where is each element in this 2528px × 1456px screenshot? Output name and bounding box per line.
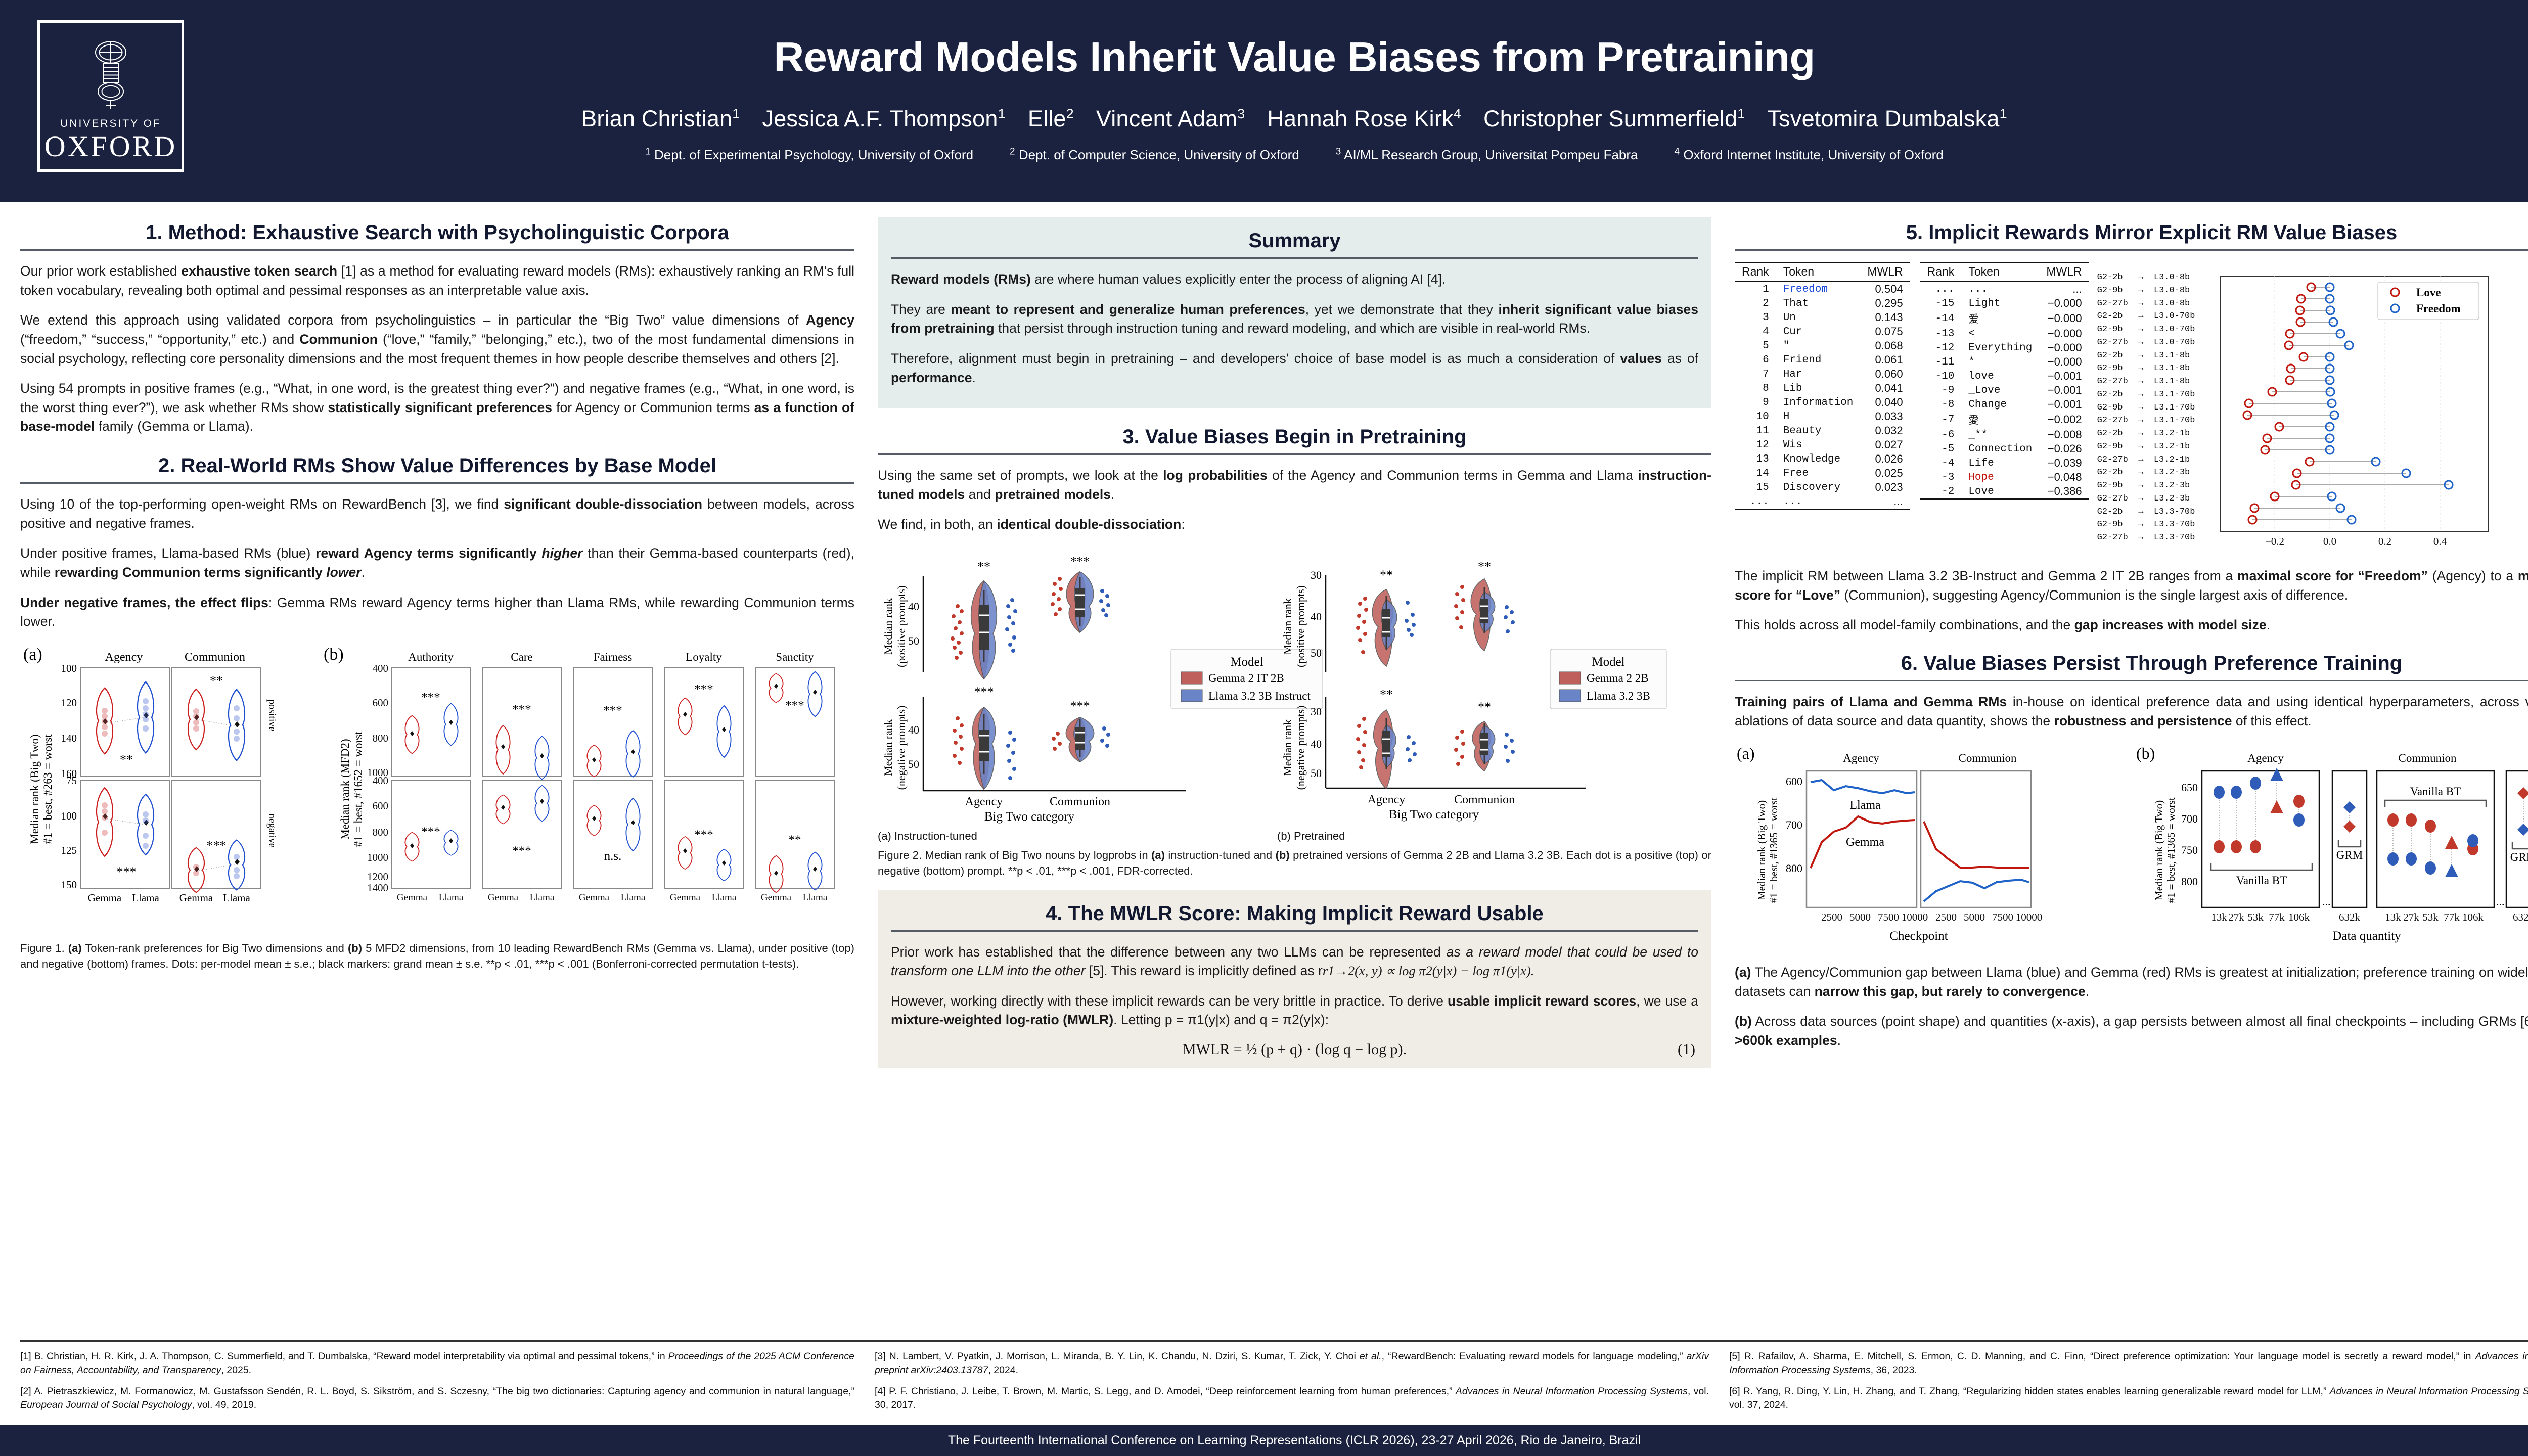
svg-text:800: 800 <box>1786 862 1802 875</box>
author-list: Brian Christian1Jessica A.F. Thompson1El… <box>0 106 2528 132</box>
references-column-2: [3] N. Lambert, V. Pyatkin, J. Morrison,… <box>875 1350 1709 1420</box>
table-row: -9_Love−0.001 <box>1920 383 2089 397</box>
figure-6b-col-communion: Communion <box>2398 752 2457 764</box>
author: Tsvetomira Dumbalska1 <box>1767 106 2007 131</box>
mwlr-table-bottom: RankTokenMWLR ......... -15Light−0.000 -… <box>1920 262 2089 500</box>
model-pair: G2-9b → L3.0-70b <box>2097 323 2195 336</box>
svg-text:106k: 106k <box>2462 911 2484 923</box>
figure-2a-xlabel: Big Two category <box>984 810 1075 824</box>
author: Brian Christian1 <box>581 106 740 131</box>
figure-2b: Median rank (positive prompts) 30 40 50 <box>1281 559 1666 822</box>
svg-text:50: 50 <box>908 758 919 770</box>
figure-1a-panel-neg-agency: 75 100 125 150 *** <box>61 775 170 891</box>
table-row: ......... <box>1735 494 1910 510</box>
poster-title: Reward Models Inherit Value Biases from … <box>0 0 2528 81</box>
figure-2a-ylabel-neg-1: Median rank <box>882 719 894 776</box>
table-row: 12Wis0.027 <box>1735 438 1910 452</box>
table-row: 2That0.295 <box>1735 296 1910 310</box>
model-pair: G2-27b → L3.2-1b <box>2097 453 2195 467</box>
affiliation-list: 1 Dept. of Experimental Psychology, Univ… <box>0 146 2528 163</box>
section-2-paragraph-3: Under negative frames, the effect flips:… <box>20 594 854 631</box>
figure-1b-col-authority: Authority <box>408 651 454 663</box>
figure-1b-row-positive: *** *** *** *** *** <box>392 668 834 780</box>
summary-paragraph-1: Reward models (RMs) are where human valu… <box>891 270 1698 289</box>
column-middle: Summary Reward models (RMs) are where hu… <box>878 217 1711 1337</box>
svg-text:Llama: Llama <box>530 892 555 903</box>
figure-2b-legend-llama: Llama 3.2 3B <box>1587 690 1650 702</box>
model-pair: G2-2b → L3.1-70b <box>2097 388 2195 401</box>
svg-text:40: 40 <box>1311 738 1322 750</box>
figure-2b-ylabel-neg-2: (negative prompts) <box>1294 706 1307 790</box>
table-row: 11Beauty0.032 <box>1735 424 1910 438</box>
table-header-mwlr: MWLR <box>2039 263 2089 282</box>
table-row: 1Freedom0.504 <box>1735 282 1910 296</box>
svg-text:Gemma: Gemma <box>179 892 213 904</box>
author: Jessica A.F. Thompson1 <box>762 106 1006 131</box>
svg-text:Gemma: Gemma <box>579 892 610 903</box>
figure-1a-sig-pos-agency: ** <box>120 752 133 767</box>
figure-1b-label: (b) <box>324 645 344 664</box>
svg-text:600: 600 <box>373 800 389 812</box>
svg-text:140: 140 <box>61 732 77 744</box>
figure-1a-sig-neg-communion: *** <box>207 838 227 853</box>
svg-text:1400: 1400 <box>367 882 388 894</box>
figure-1b-row-negative: *** *** n.s. *** ** <box>392 780 834 892</box>
svg-text:10000: 10000 <box>1902 911 1928 923</box>
table-row: -5Connection−0.026 <box>1920 442 2089 456</box>
svg-text:100: 100 <box>61 810 77 822</box>
svg-text:40: 40 <box>908 723 919 736</box>
figure-2a-ylabel-pos-1: Median rank <box>882 598 894 655</box>
model-pair: G2-27b → L3.0-8b <box>2097 297 2195 310</box>
figure-2a-xtick-agency: Agency <box>965 795 1003 808</box>
section-1-paragraph-2: We extend this approach using validated … <box>20 311 854 368</box>
figure-1a-sig-neg-agency: *** <box>117 864 137 879</box>
table-row: 15Discovery0.023 <box>1735 480 1910 494</box>
table-row: 14Free0.025 <box>1735 466 1910 480</box>
column-left: 1. Method: Exhaustive Search with Psycho… <box>20 217 854 1337</box>
figure-5-legend-freedom: Freedom <box>2416 302 2461 315</box>
section-5-figure: RankTokenMWLR 1Freedom0.504 2That0.295 3… <box>1735 262 2528 559</box>
svg-text:106k: 106k <box>2288 911 2310 923</box>
svg-text:***: *** <box>512 844 531 858</box>
figure-1a-panel-neg-communion: *** <box>172 780 260 892</box>
figure-6b-bracket-vanilla-a: Vanilla BT <box>2236 874 2287 887</box>
model-pair: G2-27b → L3.3-70b <box>2097 531 2195 544</box>
table-row: 8Lib0.041 <box>1735 381 1910 395</box>
figure-2-caption: Figure 2. Median rank of Big Two nouns b… <box>878 848 1711 879</box>
table-row: -8Change−0.001 <box>1920 397 2089 412</box>
model-pair: G2-27b → L3.1-70b <box>2097 414 2195 427</box>
oxford-crest-icon <box>78 36 143 112</box>
figure-6a-ylabel-2: #1 = best, #1365 = worst <box>1768 797 1780 903</box>
author: Elle2 <box>1028 106 1074 131</box>
divider <box>1735 249 2528 251</box>
figure-2a-sig-pos-communion: *** <box>1070 554 1090 569</box>
figure-2b-sig-neg-communion: ** <box>1478 700 1491 714</box>
figure-2a-ylabel-neg-2: (negative prompts) <box>895 706 908 790</box>
svg-text:600: 600 <box>1786 775 1802 788</box>
figure-1b-col-fairness: Fairness <box>594 651 633 663</box>
figure-2b-xtick-communion: Communion <box>1454 793 1515 806</box>
figure-1-caption: Figure 1. (a) Token-rank preferences for… <box>20 941 854 972</box>
summary-paragraph-3: Therefore, alignment must begin in pretr… <box>891 349 1698 387</box>
divider <box>1735 680 2528 681</box>
references-column-3: [5] R. Rafailov, A. Sharma, E. Mitchell,… <box>1729 1350 2528 1420</box>
section-4-paragraph-2: However, working directly with these imp… <box>891 992 1698 1030</box>
svg-text:700: 700 <box>2181 812 2198 825</box>
figure-5-xtick: 0.0 <box>2323 535 2336 548</box>
summary-box: Summary Reward models (RMs) are where hu… <box>878 217 1711 408</box>
model-pair: G2-9b → L3.1-8b <box>2097 362 2195 375</box>
figure-1a-panel-pos-agency: 100 120 140 160 ** <box>61 662 170 780</box>
figure-5-dumbbell-chart: Love Freedom −0.2 0.0 0.2 0.4 <box>2200 268 2503 559</box>
figure-2b-sig-pos-agency: ** <box>1380 568 1393 582</box>
figure-2b-ylabel-pos-1: Median rank <box>1281 598 1294 655</box>
summary-title: Summary <box>891 225 1698 257</box>
svg-text:150: 150 <box>61 879 77 891</box>
model-pair: G2-9b → L3.2-1b <box>2097 440 2195 453</box>
svg-text:***: *** <box>694 828 713 842</box>
summary-paragraph-2: They are meant to represent and generali… <box>891 300 1698 338</box>
svg-text:750: 750 <box>2181 844 2198 856</box>
figure-1b-col-loyalty: Loyalty <box>686 651 722 663</box>
bracket-vanilla-bt <box>2211 863 2312 870</box>
svg-text:Llama: Llama <box>223 892 250 904</box>
svg-text:7500: 7500 <box>1878 911 1899 923</box>
section-3-paragraph-1: Using the same set of prompts, we look a… <box>878 466 1711 504</box>
figure-1a-panel-pos-communion: ** <box>172 668 260 777</box>
model-pair: G2-2b → L3.2-1b <box>2097 427 2195 440</box>
table-row: -6_**−0.008 <box>1920 428 2089 442</box>
table-header-token: Token <box>1961 263 2039 282</box>
svg-text:50: 50 <box>908 634 919 647</box>
svg-text:30: 30 <box>1311 569 1322 581</box>
svg-text:50: 50 <box>1311 647 1322 659</box>
figure-2a-sig-neg-agency: *** <box>974 685 994 699</box>
section-2-title: 2. Real-World RMs Show Value Differences… <box>20 447 854 482</box>
svg-text:Llama: Llama <box>712 892 737 903</box>
figure-2a-panel-label: (a) Instruction-tuned <box>878 830 1277 843</box>
figure-2a-legend-gemma: Gemma 2 IT 2B <box>1208 672 1284 685</box>
figure-2b-panel-label: (b) Pretrained <box>1277 830 1672 843</box>
figure-1a-row-positive: positive <box>266 699 278 731</box>
section-6-paragraph-1: Training pairs of Llama and Gemma RMs in… <box>1735 693 2528 731</box>
svg-text:***: *** <box>694 682 713 696</box>
oxford-logo: UNIVERSITY OF OXFORD <box>37 20 184 172</box>
table-row: -3Hope−0.048 <box>1920 470 2089 484</box>
svg-text:5000: 5000 <box>1964 911 1985 923</box>
figure-6b-label: (b) <box>2136 744 2155 762</box>
figure-2-svg: Median rank (positive prompts) 40 50 <box>878 545 1672 829</box>
table-row: 5"0.068 <box>1735 339 1910 353</box>
section-6-caption-a: (a) The Agency/Communion gap between Lla… <box>1735 963 2528 1001</box>
figure-6a: (a) Agency Communion Median rank (Big Tw… <box>1737 744 2042 943</box>
figure-6b-bracket-vanilla-c: Vanilla BT <box>2410 785 2461 798</box>
figure-1b-ylabel-1: Median rank (MFD2) <box>339 739 351 839</box>
section-4-box: 4. The MWLR Score: Making Implicit Rewar… <box>878 890 1711 1069</box>
svg-text:Gemma: Gemma <box>488 892 519 903</box>
section-6-caption-b: (b) Across data sources (point shape) an… <box>1735 1012 2528 1050</box>
figure-2b-legend: Model Gemma 2 2B Llama 3.2 3B <box>1550 649 1666 709</box>
figure-1a-sig-pos-communion: ** <box>210 673 223 688</box>
svg-text:650: 650 <box>2181 781 2198 794</box>
equation-number: (1) <box>1678 1041 1695 1058</box>
table-header-rank: Rank <box>1920 263 1962 282</box>
svg-text:2500: 2500 <box>1935 911 1957 923</box>
figure-2a-legend-llama: Llama 3.2 3B Instruct <box>1208 690 1311 702</box>
section-1-paragraph-3: Using 54 prompts in positive frames (e.g… <box>20 379 854 436</box>
figure-6b-ylabel-2: #1 = best, #1365 = worst <box>2165 797 2177 903</box>
mwlr-equation: MWLR = ½ (p + q) · (log q − log p).(1) <box>891 1041 1698 1058</box>
figure-2a: Median rank (positive prompts) 40 50 <box>882 554 1323 824</box>
table-row: -2Love−0.386 <box>1920 484 2089 499</box>
svg-text:Llama: Llama <box>621 892 646 903</box>
figure-2b-sig-neg-agency: ** <box>1380 687 1393 702</box>
reference-item: [3] N. Lambert, V. Pyatkin, J. Morrison,… <box>875 1350 1709 1377</box>
section-2-paragraph-1: Using 10 of the top-performing open-weig… <box>20 495 854 533</box>
svg-text:40: 40 <box>908 600 919 613</box>
figure-2b-legend-title: Model <box>1592 655 1624 669</box>
divider <box>891 257 1698 259</box>
author: Vincent Adam3 <box>1096 106 1245 131</box>
svg-text:400: 400 <box>373 775 389 787</box>
model-pair: G2-27b → L3.2-3b <box>2097 492 2195 506</box>
model-pair: G2-9b → L3.3-70b <box>2097 518 2195 531</box>
section-6-title: 6. Value Biases Persist Through Preferen… <box>1735 646 2528 680</box>
affiliation: 4 Oxford Internet Institute, University … <box>1675 147 1944 162</box>
table-header-rank: Rank <box>1735 263 1776 282</box>
table-header-token: Token <box>1776 263 1861 282</box>
reference-item: [6] R. Yang, R. Ding, Y. Lin, H. Zhang, … <box>1729 1385 2528 1412</box>
column-right: 5. Implicit Rewards Mirror Explicit RM V… <box>1735 217 2528 1337</box>
references: [1] B. Christian, H. R. Kirk, J. A. Thom… <box>20 1340 2528 1420</box>
section-1-title: 1. Method: Exhaustive Search with Psycho… <box>20 217 854 249</box>
figure-6b-col-agency: Agency <box>2247 752 2284 764</box>
svg-text:5000: 5000 <box>1849 911 1871 923</box>
affiliation: 3 AI/ML Research Group, Universitat Pomp… <box>1336 147 1638 162</box>
figure-6a-col-communion: Communion <box>1958 752 2017 764</box>
figure-2b-sig-pos-communion: ** <box>1478 559 1491 574</box>
poster-body: 1. Method: Exhaustive Search with Psycho… <box>0 202 2528 1337</box>
svg-text:Llama: Llama <box>803 892 828 903</box>
section-5-paragraph-1: The implicit RM between Llama 3.2 3B-Ins… <box>1735 567 2528 605</box>
svg-text:Llama: Llama <box>132 892 159 904</box>
table-header-mwlr: MWLR <box>1860 263 1910 282</box>
section-4-title: 4. The MWLR Score: Making Implicit Rewar… <box>891 898 1698 930</box>
svg-text:***: *** <box>603 704 622 717</box>
affiliation: 2 Dept. of Computer Science, University … <box>1010 147 1299 162</box>
table-row: -11*−0.000 <box>1920 355 2089 369</box>
reference-item: [4] P. F. Christiano, J. Leibe, T. Brown… <box>875 1385 1709 1412</box>
bracket-grm <box>2338 840 2361 847</box>
figure-1-svg: (a) Agency Communion Median rank (Big Tw… <box>20 643 854 936</box>
figure-2a-sig-neg-communion: *** <box>1070 699 1090 713</box>
figure-6b-ellipsis-a: ... <box>2322 895 2331 908</box>
svg-text:27k: 27k <box>2403 911 2419 923</box>
figure-1a-label: (a) <box>23 645 42 664</box>
svg-text:125: 125 <box>61 844 77 856</box>
svg-text:77k: 77k <box>2269 911 2285 923</box>
figure-2a-xtick-communion: Communion <box>1050 795 1110 808</box>
svg-text:n.s.: n.s. <box>604 849 622 863</box>
svg-text:Llama: Llama <box>439 892 464 903</box>
svg-text:***: *** <box>785 699 804 712</box>
affiliation: 1 Dept. of Experimental Psychology, Univ… <box>645 147 973 162</box>
svg-text:53k: 53k <box>2422 911 2439 923</box>
figure-2: Median rank (positive prompts) 40 50 <box>878 545 1711 829</box>
figure-6a-series-llama: Llama <box>1849 799 1881 812</box>
model-pair: G2-9b → L3.1-70b <box>2097 401 2195 415</box>
table-row: 13Knowledge0.026 <box>1735 452 1910 466</box>
figure-5-xtick: 0.4 <box>2433 535 2447 548</box>
reference-item: [1] B. Christian, H. R. Kirk, J. A. Thom… <box>20 1350 854 1377</box>
figure-1b-col-care: Care <box>511 651 532 663</box>
svg-text:632k: 632k <box>2513 911 2528 923</box>
figure-6a-label: (a) <box>1737 744 1755 762</box>
svg-text:400: 400 <box>373 662 389 674</box>
figure-6-svg: (a) Agency Communion Median rank (Big Tw… <box>1735 742 2528 959</box>
author: Christopher Summerfield1 <box>1483 106 1745 131</box>
section-5-paragraph-2: This holds across all model-family combi… <box>1735 616 2528 635</box>
model-pair: G2-2b → L3.1-8b <box>2097 349 2195 362</box>
table-row: -14爱−0.000 <box>1920 310 2089 327</box>
figure-2a-sig-pos-agency: ** <box>977 559 990 574</box>
svg-text:10000: 10000 <box>2016 911 2043 923</box>
figure-2b-ylabel-pos-2: (positive prompts) <box>1294 585 1307 667</box>
references-column-1: [1] B. Christian, H. R. Kirk, J. A. Thom… <box>20 1350 854 1420</box>
figure-2b-legend-gemma: Gemma 2 2B <box>1587 672 1649 685</box>
model-pair: G2-2b → L3.0-8b <box>2097 271 2195 284</box>
svg-text:600: 600 <box>373 697 389 709</box>
svg-text:77k: 77k <box>2444 911 2460 923</box>
table-row: -10love−0.001 <box>1920 369 2089 383</box>
svg-text:800: 800 <box>2181 875 2198 888</box>
logo-oxford-text: OXFORD <box>44 132 177 161</box>
divider <box>20 249 854 251</box>
svg-text:***: *** <box>421 825 440 839</box>
divider <box>891 930 1698 932</box>
poster-footer: The Fourteenth International Conference … <box>0 1425 2528 1456</box>
svg-text:13k: 13k <box>2385 911 2401 923</box>
model-pair: G2-9b → L3.0-8b <box>2097 284 2195 297</box>
poster-header: UNIVERSITY OF OXFORD Reward Models Inher… <box>0 0 2528 202</box>
model-pair: G2-2b → L3.3-70b <box>2097 506 2195 519</box>
figure-6a-col-agency: Agency <box>1843 752 1879 764</box>
svg-text:27k: 27k <box>2228 911 2244 923</box>
svg-text:30: 30 <box>1311 705 1322 718</box>
svg-text:632k: 632k <box>2339 911 2361 923</box>
svg-text:700: 700 <box>1786 818 1802 831</box>
table-row: 3Un0.143 <box>1735 310 1910 325</box>
model-pair: G2-27b → L3.0-70b <box>2097 336 2195 349</box>
svg-text:53k: 53k <box>2247 911 2264 923</box>
svg-text:Gemma: Gemma <box>397 892 428 903</box>
svg-text:1200: 1200 <box>367 871 388 883</box>
svg-text:**: ** <box>789 833 801 847</box>
table-row: -7愛−0.002 <box>1920 412 2089 428</box>
figure-1b-ylabel-2: #1 = best, #1652 = worst <box>352 731 365 847</box>
section-3-paragraph-2: We find, in both, an identical double-di… <box>878 515 1711 534</box>
figure-1a-ylabel-2: #1 = best, #263 = worst <box>41 734 54 844</box>
figure-6a-ylabel-1: Median rank (Big Two) <box>1755 800 1768 900</box>
svg-text:2500: 2500 <box>1821 911 1842 923</box>
table-row: -13<−0.000 <box>1920 327 2089 341</box>
figure-1a-col-agency: Agency <box>105 651 143 664</box>
svg-text:100: 100 <box>61 662 77 674</box>
reference-item: [5] R. Rafailov, A. Sharma, E. Mitchell,… <box>1729 1350 2528 1377</box>
poster-root: UNIVERSITY OF OXFORD Reward Models Inher… <box>0 0 2528 1456</box>
figure-6b-bracket-grm-c: GRM <box>2510 851 2528 863</box>
model-pair-labels: G2-2b → L3.0-8bG2-9b → L3.0-8bG2-27b → L… <box>2097 271 2195 544</box>
logo-university-text: UNIVERSITY OF <box>60 118 161 130</box>
figure-5-legend-love: Love <box>2416 286 2441 299</box>
model-pair: G2-9b → L3.2-3b <box>2097 479 2195 492</box>
reference-item: [2] A. Pietraszkiewicz, M. Formanowicz, … <box>20 1385 854 1412</box>
svg-text:50: 50 <box>1311 767 1322 780</box>
figure-1b-col-sanctity: Sanctity <box>776 651 814 663</box>
figure-2b-ylabel-neg-1: Median rank <box>1281 719 1294 776</box>
figure-6b: (b) Agency Communion Median rank (Big Tw… <box>2136 744 2528 943</box>
author: Hannah Rose Kirk4 <box>1267 106 1461 131</box>
figure-2a-legend-title: Model <box>1230 655 1263 669</box>
svg-text:7500: 7500 <box>1992 911 2013 923</box>
figure-5-legend: Love Freedom <box>2378 282 2479 320</box>
section-4-paragraph-1: Prior work has established that the diff… <box>891 943 1698 981</box>
svg-text:13k: 13k <box>2211 911 2227 923</box>
figure-6b-bracket-grm-a: GRM <box>2336 849 2363 861</box>
svg-text:40: 40 <box>1311 610 1322 623</box>
figure-5-xtick: 0.2 <box>2378 535 2391 548</box>
table-row: -4Life−0.039 <box>1920 456 2089 470</box>
table-row: ......... <box>1920 282 2089 296</box>
svg-text:75: 75 <box>66 775 77 787</box>
svg-text:***: *** <box>512 703 531 716</box>
figure-1: (a) Agency Communion Median rank (Big Tw… <box>20 643 854 936</box>
mwlr-table-top: RankTokenMWLR 1Freedom0.504 2That0.295 3… <box>1735 262 1910 510</box>
figure-2b-xlabel: Big Two category <box>1389 808 1479 822</box>
svg-text:Gemma: Gemma <box>670 892 701 903</box>
figure-6b-ylabel-1: Median rank (Big Two) <box>2153 800 2165 900</box>
figure-2b-xtick-agency: Agency <box>1368 793 1406 806</box>
table-row: -12Everything−0.000 <box>1920 341 2089 355</box>
divider <box>20 482 854 484</box>
figure-5-xtick: −0.2 <box>2265 535 2284 548</box>
figure-6b-ellipsis-c: ... <box>2496 895 2505 908</box>
svg-text:Gemma: Gemma <box>761 892 792 903</box>
table-row: 10H0.033 <box>1735 409 1910 424</box>
section-1-paragraph-1: Our prior work established exhaustive to… <box>20 262 854 300</box>
svg-text:***: *** <box>421 691 440 704</box>
section-5-title: 5. Implicit Rewards Mirror Explicit RM V… <box>1735 217 2528 249</box>
svg-text:Gemma: Gemma <box>88 892 122 904</box>
divider <box>878 453 1711 455</box>
model-pair: G2-2b → L3.2-3b <box>2097 466 2195 479</box>
model-pair: G2-2b → L3.0-70b <box>2097 310 2195 323</box>
table-row: 7Har0.060 <box>1735 367 1910 381</box>
svg-text:800: 800 <box>373 732 389 744</box>
figure-2a-ylabel-pos-2: (positive prompts) <box>895 585 908 667</box>
table-row: 6Friend0.061 <box>1735 353 1910 367</box>
figure-6: (a) Agency Communion Median rank (Big Tw… <box>1735 742 2528 959</box>
figure-1a-ylabel-1: Median rank (Big Two) <box>28 734 41 844</box>
figure-1a-col-communion: Communion <box>185 651 245 664</box>
svg-text:1000: 1000 <box>367 851 388 863</box>
section-2-paragraph-2: Under positive frames, Llama-based RMs (… <box>20 544 854 582</box>
figure-1a-row-negative: negative <box>266 813 278 848</box>
figure-6a-series-gemma: Gemma <box>1846 836 1884 849</box>
svg-text:120: 120 <box>61 697 77 709</box>
